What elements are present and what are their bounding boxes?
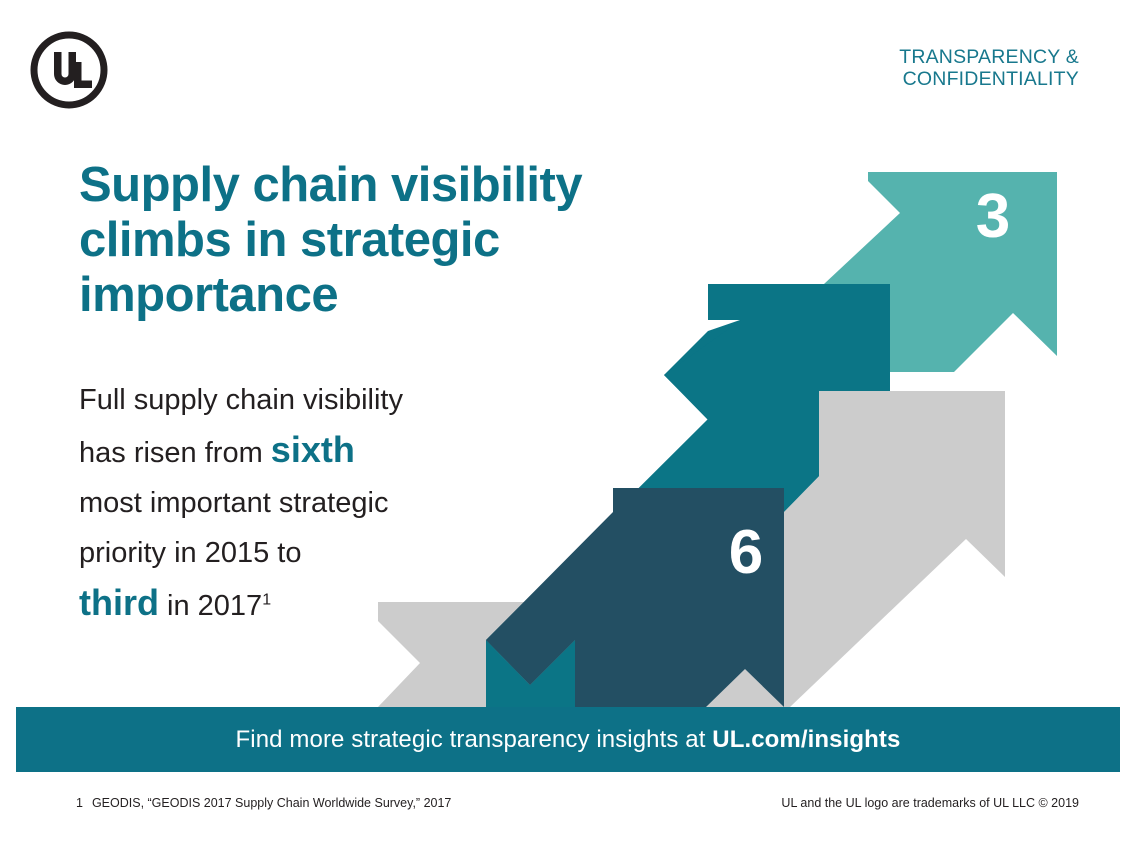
ghost-arrow-upper — [640, 391, 1005, 707]
rank-arrow-2015 — [486, 488, 784, 707]
footnote: 1GEODIS, “GEODIS 2017 Supply Chain World… — [76, 796, 451, 810]
header-eyebrow: TRANSPARENCY & CONFIDENTIALITY — [659, 46, 1079, 90]
rank-arrow-2017 — [824, 172, 1057, 372]
page-title: Supply chain visibility climbs in strate… — [79, 158, 679, 323]
body-line-1: Full supply chain visibility — [79, 375, 499, 425]
body-line-2: has risen from sixth — [79, 425, 499, 478]
ul-logo-letter-u — [54, 52, 76, 85]
cta-text: Find more strategic transparency insight… — [236, 726, 901, 754]
footnote-text: GEODIS, “GEODIS 2017 Supply Chain Worldw… — [92, 796, 451, 810]
body-line-5-text: in 2017 — [159, 590, 262, 622]
climb-arrow-mid — [486, 284, 890, 707]
body-copy: Full supply chain visibility has risen f… — [79, 375, 499, 631]
footnote-superscript: 1 — [262, 591, 271, 608]
cta-link-ul-insights[interactable]: UL.com/insights — [712, 726, 900, 753]
body-line-4: priority in 2015 to — [79, 528, 499, 578]
body-line-2-text: has risen from — [79, 437, 271, 469]
headline-line-3: importance — [79, 268, 679, 323]
body-emphasis-sixth: sixth — [271, 429, 355, 470]
rank-label-2017: 3 — [976, 182, 1010, 251]
body-line-5: third in 20171 — [79, 578, 499, 631]
body-emphasis-third: third — [79, 582, 159, 623]
cta-text-lead: Find more strategic transparency insight… — [236, 726, 713, 753]
ul-logo-letter-l — [74, 62, 92, 88]
headline-line-1: Supply chain visibility — [79, 158, 679, 213]
legal-notice: UL and the UL logo are trademarks of UL … — [781, 796, 1079, 810]
header-eyebrow-line-2: CONFIDENTIALITY — [659, 68, 1079, 90]
header-eyebrow-line-1: TRANSPARENCY & — [659, 46, 1079, 68]
climb-arrow-mid-body — [486, 284, 890, 707]
ul-logo-mark — [30, 31, 108, 109]
rank-label-2015: 6 — [729, 518, 763, 587]
ul-logo — [30, 31, 108, 109]
infographic-page: TRANSPARENCY & CONFIDENTIALITY 3 6 Suppl… — [0, 0, 1136, 841]
cta-banner[interactable]: Find more strategic transparency insight… — [16, 707, 1120, 772]
body-line-3: most important strategic — [79, 478, 499, 528]
headline-line-2: climbs in strategic — [79, 213, 679, 268]
footnote-marker: 1 — [76, 796, 83, 810]
